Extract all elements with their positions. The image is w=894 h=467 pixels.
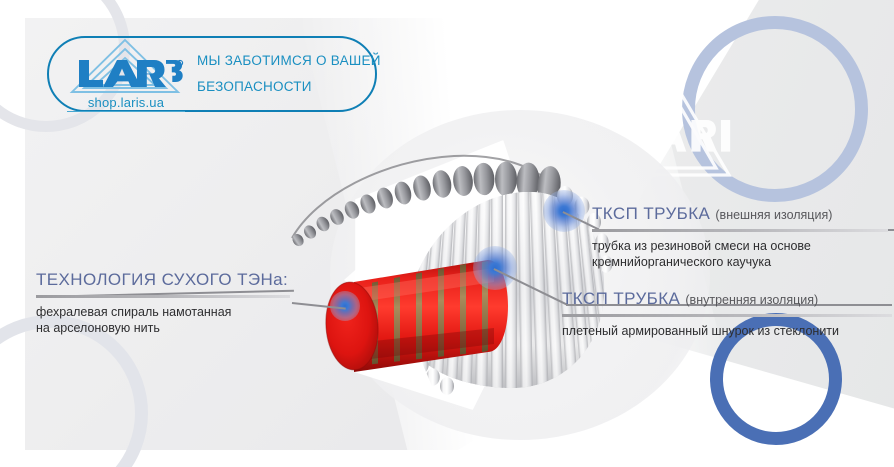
callout-left-divider — [36, 295, 290, 298]
callout-left-heading: ТЕХНОЛОГИЯ СУХОГО ТЭНа: — [36, 270, 290, 290]
callout-inner-divider — [562, 314, 892, 317]
callout-dry-technology: ТЕХНОЛОГИЯ СУХОГО ТЭНа: фехралевая спира… — [36, 270, 290, 336]
callout-outer-title: ТКСП ТРУБКА — [592, 204, 710, 223]
callout-inner-insulation: ТКСП ТРУБКА (внутренняя изоляция) плетен… — [562, 289, 892, 339]
brand-slogan-line2: БЕЗОПАСНОСТИ — [197, 74, 381, 100]
brand-url[interactable]: shop.laris.ua — [67, 95, 185, 112]
callout-outer-desc-2: кремнийорганического каучука — [592, 254, 888, 270]
brand-slogan-line1: МЫ ЗАБОТИМСЯ О ВАШЕЙ — [197, 48, 381, 74]
dry-heating-element-illustration — [286, 148, 616, 408]
brand-logo[interactable]: shop.laris.ua — [65, 38, 185, 110]
callout-inner-heading: ТКСП ТРУБКА (внутренняя изоляция) — [562, 289, 892, 309]
callout-inner-desc-1: плетеный армированный шнурок из стеклони… — [562, 323, 892, 339]
callout-outer-insulation: ТКСП ТРУБКА (внешняя изоляция) трубка из… — [592, 204, 888, 270]
callout-left-desc-1: фехралевая спираль намотанная — [36, 304, 290, 320]
callout-left-title: ТЕХНОЛОГИЯ СУХОГО ТЭНа: — [36, 270, 288, 289]
brand-header-pill: shop.laris.ua МЫ ЗАБОТИМСЯ О ВАШЕЙ БЕЗОП… — [47, 36, 377, 112]
callout-inner-title: ТКСП ТРУБКА — [562, 289, 680, 308]
callout-outer-qualifier: (внешняя изоляция) — [715, 208, 832, 222]
callout-inner-qualifier: (внутренняя изоляция) — [685, 293, 818, 307]
callout-outer-divider — [592, 229, 888, 232]
infographic-banner: shop.laris.ua МЫ ЗАБОТИМСЯ О ВАШЕЙ БЕЗОП… — [0, 0, 894, 467]
callout-outer-heading: ТКСП ТРУБКА (внешняя изоляция) — [592, 204, 888, 224]
brand-slogan: МЫ ЗАБОТИМСЯ О ВАШЕЙ БЕЗОПАСНОСТИ — [197, 48, 381, 101]
callout-outer-desc-1: трубка из резиновой смеси на основе — [592, 238, 888, 254]
callout-left-desc-2: на арселоновую нить — [36, 320, 290, 336]
